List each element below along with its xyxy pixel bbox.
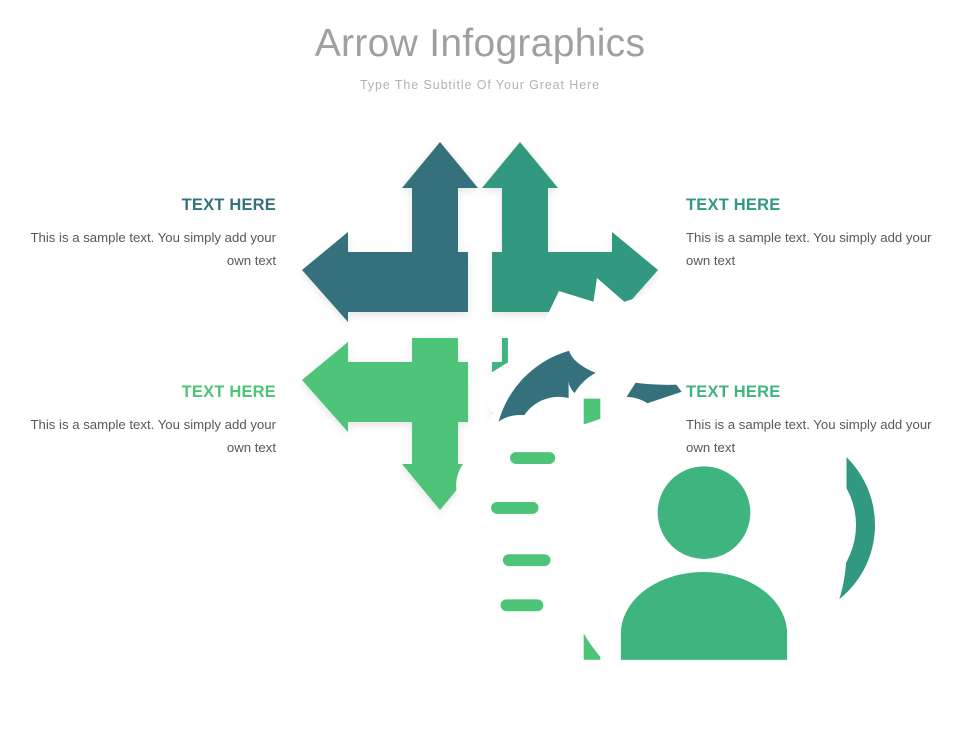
- text-block-top-left-heading: TEXT HERE: [16, 196, 276, 214]
- text-block-bottom-right: TEXT HERE This is a sample text. You sim…: [686, 383, 946, 460]
- shield-person-icon: [514, 358, 548, 392]
- text-block-bottom-left: TEXT HERE This is a sample text. You sim…: [16, 383, 276, 460]
- text-block-top-right-body: This is a sample text. You simply add yo…: [686, 214, 946, 272]
- four-quadrant-arrow-diagram: [290, 130, 670, 520]
- header: Arrow Infographics Type The Subtitle Of …: [0, 0, 960, 92]
- brain-icon: [402, 358, 436, 392]
- gear-wrench-icon: [407, 254, 441, 288]
- text-block-top-right-heading: TEXT HERE: [686, 196, 946, 214]
- text-block-top-right: TEXT HERE This is a sample text. You sim…: [686, 196, 946, 273]
- database-check-icon: [514, 254, 548, 288]
- page-subtitle: Type The Subtitle Of Your Great Here: [0, 67, 960, 92]
- text-block-bottom-left-body: This is a sample text. You simply add yo…: [16, 401, 276, 459]
- text-block-top-left-body: This is a sample text. You simply add yo…: [16, 214, 276, 272]
- page-title: Arrow Infographics: [0, 0, 960, 67]
- text-block-top-left: TEXT HERE This is a sample text. You sim…: [16, 196, 276, 273]
- text-block-bottom-left-heading: TEXT HERE: [16, 383, 276, 401]
- text-block-bottom-right-heading: TEXT HERE: [686, 383, 946, 401]
- text-block-bottom-right-body: This is a sample text. You simply add yo…: [686, 401, 946, 459]
